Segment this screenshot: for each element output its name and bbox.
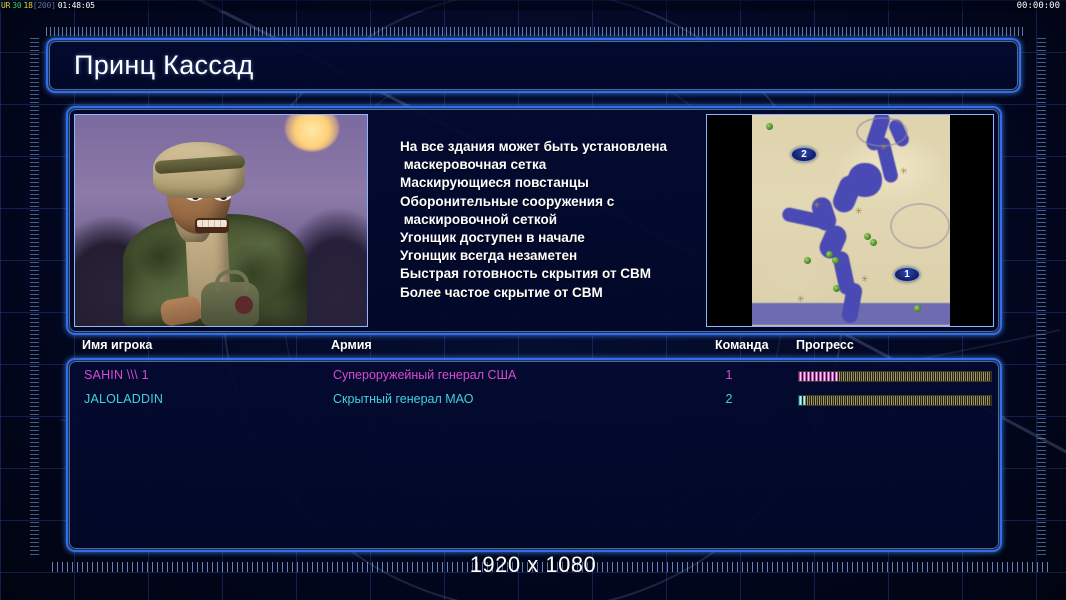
top-status-bar: UR 30 18 [200] 01:48:05 <box>0 0 1066 11</box>
player-name: SAHIN \\\ 1 <box>84 368 149 382</box>
progress-bar-fill <box>799 396 805 405</box>
title-panel: Принц Кассад <box>46 38 1021 93</box>
status-value-2: 18 <box>21 1 32 10</box>
player-army: Скрытный генерал МАО <box>333 392 473 406</box>
table-row[interactable]: SAHIN \\\ 1Супероружейный генерал США1 <box>68 366 1000 390</box>
ruler-right <box>1037 38 1046 558</box>
description-line: маскеровочная сетка <box>400 156 706 174</box>
soldier-mouth <box>195 218 229 233</box>
soldier-figure <box>109 126 319 326</box>
teapot-prop <box>201 282 259 326</box>
column-header-army: Армия <box>331 338 372 352</box>
status-bracket: [200] <box>33 1 56 10</box>
status-value-1: 30 <box>10 1 21 10</box>
status-ur-label: UR <box>0 1 10 10</box>
player-rows: SAHIN \\\ 1Супероружейный генерал США1JA… <box>68 360 1000 414</box>
column-header-progress: Прогресс <box>796 338 854 352</box>
minimap-container: ✳ ✳ ✳ ✳ ✳ ✳ 2 1 <box>706 114 994 327</box>
progress-bar <box>798 371 992 382</box>
description-line: Маскирующиеся повстанцы <box>400 174 706 192</box>
description-line: На все здания может быть установлена <box>400 138 706 156</box>
top-right-timer: 00:00:00 <box>1017 1 1060 11</box>
player-name: JALOLADDIN <box>84 392 163 406</box>
description-line: Быстрая готовность скрытия от СВМ <box>400 265 706 283</box>
page-title: Принц Кассад <box>74 50 254 81</box>
description-line: маскировочной сеткой <box>400 211 706 229</box>
description-line: Угонщик доступен в начале <box>400 229 706 247</box>
general-description: На все здания может быть установлена мас… <box>368 114 706 327</box>
player-table-header: Имя игрока Армия Команда Прогресс <box>66 338 1002 358</box>
game-lobby-screen: UR 30 18 [200] 01:48:05 00:00:00 Принц К… <box>0 0 1066 600</box>
resolution-label: 1920 x 1080 <box>0 552 1066 578</box>
minimap-start-position-1: 1 <box>894 267 920 282</box>
column-header-name: Имя игрока <box>82 338 152 352</box>
description-line: Более частое скрытие от СВМ <box>400 284 706 302</box>
status-clock: 01:48:05 <box>56 1 95 10</box>
general-portrait <box>74 114 368 327</box>
description-line: Оборонительные сооружения с <box>400 193 706 211</box>
table-row[interactable]: JALOLADDINСкрытный генерал МАО2 <box>68 390 1000 414</box>
info-panel: На все здания может быть установлена мас… <box>66 106 1002 335</box>
soldier-head <box>153 142 245 240</box>
progress-bar-fill <box>799 372 839 381</box>
player-army: Супероружейный генерал США <box>333 368 516 382</box>
progress-bar <box>798 395 992 406</box>
soldier-teeth <box>197 220 227 227</box>
player-list-panel: SAHIN \\\ 1Супероружейный генерал США1JA… <box>66 358 1002 552</box>
ruler-top <box>46 27 1026 36</box>
player-team: 1 <box>717 368 741 382</box>
column-header-team: Команда <box>715 338 769 352</box>
description-line: Угонщик всегда незаметен <box>400 247 706 265</box>
soldier-headscarf <box>153 142 245 198</box>
player-team: 2 <box>717 392 741 406</box>
soldier-head-band <box>155 155 246 174</box>
minimap-start-position-2: 2 <box>791 147 817 162</box>
minimap: ✳ ✳ ✳ ✳ ✳ ✳ 2 1 <box>752 115 950 326</box>
ruler-left <box>30 38 39 558</box>
